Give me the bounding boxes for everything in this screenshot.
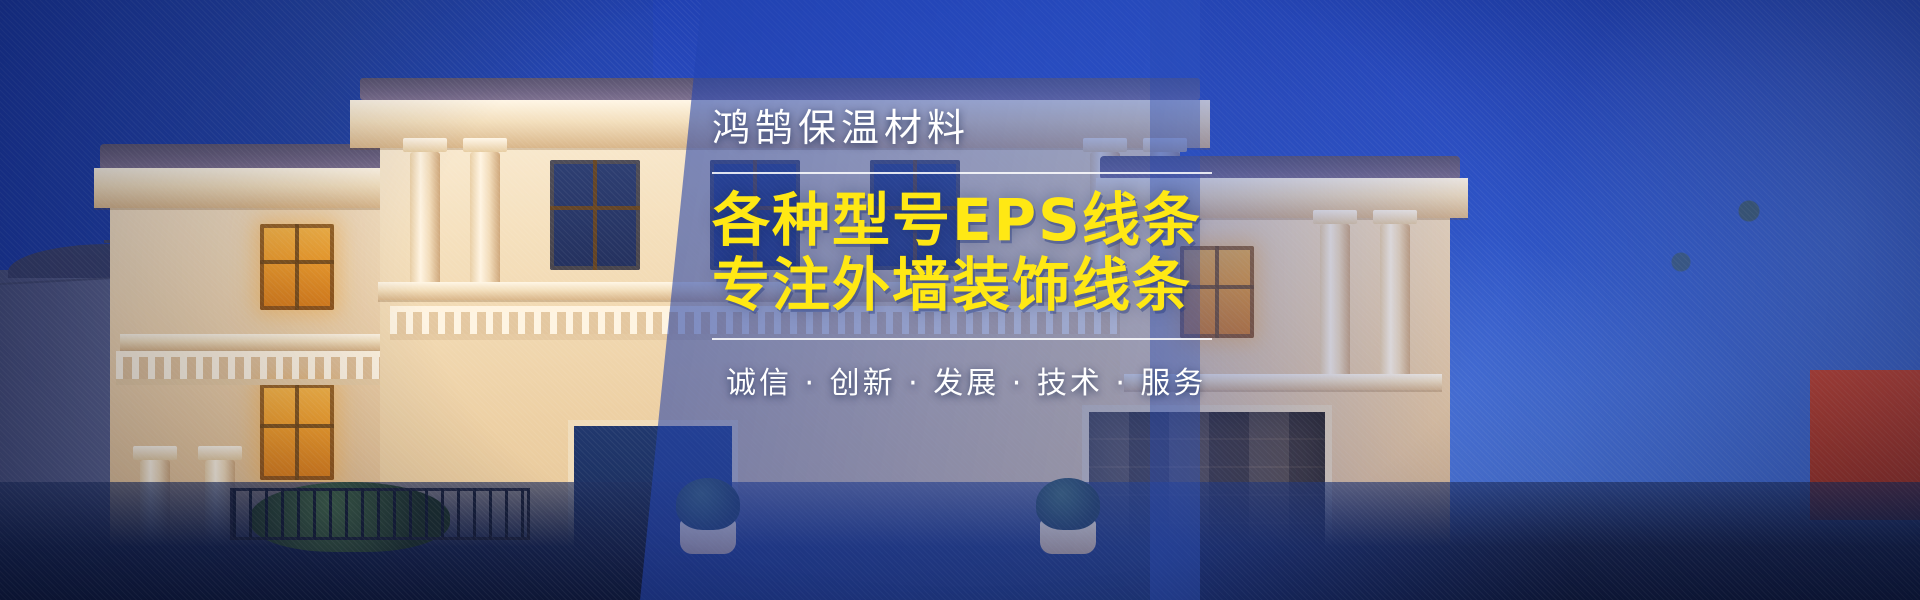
headline-line-1: 各种型号EPS线条 xyxy=(712,188,1352,253)
divider-top xyxy=(712,172,1212,174)
column-c1 xyxy=(410,152,440,282)
window-l-upper xyxy=(260,224,334,310)
divider-bottom xyxy=(712,338,1212,340)
brand-name: 鸿鹄保温材料 xyxy=(712,108,1352,150)
balcony-left xyxy=(116,351,406,385)
column-c2 xyxy=(470,152,500,282)
fence-rail xyxy=(230,488,530,540)
left-wing-band xyxy=(120,334,410,350)
headline-line-2: 专注外墙装饰线条 xyxy=(712,253,1352,318)
window-c1 xyxy=(550,160,640,270)
window-l-lower xyxy=(260,384,334,480)
hero-banner: 鸿鹄保温材料 各种型号EPS线条 专注外墙装饰线条 诚信 · 创新 · 发展 ·… xyxy=(0,0,1920,600)
tagline: 诚信 · 创新 · 发展 · 技术 · 服务 xyxy=(712,358,1352,402)
tree-foliage xyxy=(1630,160,1800,330)
banner-copy: 鸿鹄保温材料 各种型号EPS线条 专注外墙装饰线条 诚信 · 创新 · 发展 ·… xyxy=(712,108,1352,402)
